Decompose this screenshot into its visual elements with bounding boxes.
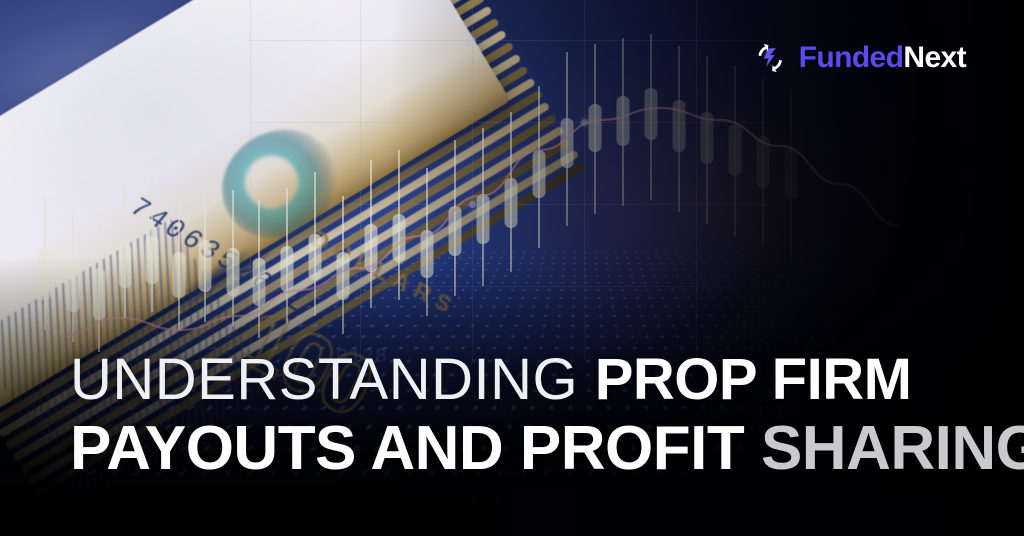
promo-banner: 74063526 L 100 DOLLARS 0128: [0, 0, 1024, 536]
headline-word-sharing: SHARING: [761, 414, 1024, 483]
headline-space-1: [578, 347, 595, 412]
fundednext-logo[interactable]: FundedNext: [750, 38, 966, 78]
headline-line-2: PAYOUTS AND PROFIT SHARING: [70, 418, 1024, 480]
fundednext-wordmark: FundedNext: [799, 43, 966, 73]
fundednext-arrows-logo-icon: [750, 38, 790, 78]
headline-line-1: UNDERSTANDING PROP FIRM: [70, 351, 1024, 409]
headline-word-prop-firm: PROP FIRM: [595, 347, 912, 412]
page-title: UNDERSTANDING PROP FIRM PAYOUTS AND PROF…: [70, 351, 1024, 480]
headline-space-2: [744, 414, 761, 483]
headline-word-payouts-and-profit: PAYOUTS AND PROFIT: [70, 414, 744, 483]
logo-word-next: Next: [903, 41, 966, 74]
headline-word-understanding: UNDERSTANDING: [70, 347, 578, 412]
logo-word-funded: Funded: [799, 41, 904, 74]
